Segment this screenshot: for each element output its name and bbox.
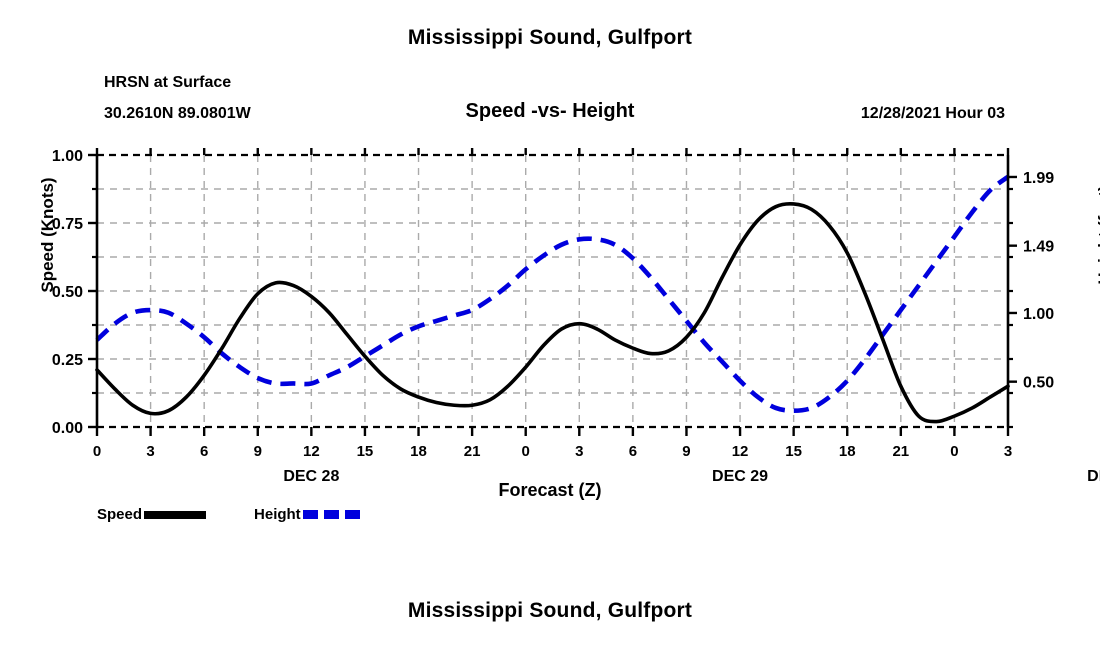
x-tick-label: 0 [950, 443, 958, 460]
x-tick-label: 0 [93, 443, 101, 460]
x-tick-label: 15 [785, 443, 802, 460]
legend-swatch-height-icon [303, 510, 365, 519]
x-tick-label: 21 [892, 443, 909, 460]
series-line-speed [97, 204, 1008, 422]
footer-title: Mississippi Sound, Gulfport [0, 599, 1100, 623]
x-tick-label: 12 [732, 443, 749, 460]
x-axis-label: Forecast (Z) [0, 480, 1100, 501]
y-tick-label-right: 1.49 [1023, 239, 1054, 256]
y-tick-label-left: 0.00 [52, 420, 83, 437]
x-tick-label: 21 [464, 443, 481, 460]
legend-swatch-speed-icon [144, 511, 206, 519]
x-tick-label: 6 [200, 443, 208, 460]
chart-legend: Speed Height [97, 506, 365, 523]
legend-item-height: Height [254, 506, 365, 523]
y-axis-right-label: Height (feet) [1095, 135, 1100, 335]
legend-item-speed: Speed [97, 506, 206, 523]
legend-label-speed: Speed [97, 506, 142, 523]
x-tick-label: 15 [357, 443, 374, 460]
x-tick-label: 6 [629, 443, 637, 460]
x-tick-label: 3 [1004, 443, 1012, 460]
x-tick-label: 18 [839, 443, 856, 460]
x-tick-label: 12 [303, 443, 320, 460]
y-tick-label-right: 1.99 [1023, 170, 1054, 187]
y-tick-label-right: 0.50 [1023, 375, 1054, 392]
y-tick-label-right: 1.00 [1023, 306, 1054, 323]
legend-label-height: Height [254, 506, 301, 523]
series-line-height [97, 177, 1008, 411]
chart-svg: 0.000.250.500.751.000.501.001.491.990369… [0, 0, 1100, 650]
y-tick-label-left: 0.25 [52, 352, 83, 369]
plot-area: 0.000.250.500.751.000.501.001.491.990369… [0, 0, 1100, 650]
x-tick-label: 0 [522, 443, 530, 460]
y-axis-left-label: Speed (Knots) [38, 135, 58, 335]
x-tick-label: 18 [410, 443, 427, 460]
x-tick-label: 9 [682, 443, 690, 460]
chart-page: Mississippi Sound, Gulfport HRSN at Surf… [0, 0, 1100, 650]
x-tick-label: 3 [146, 443, 154, 460]
x-tick-label: 3 [575, 443, 583, 460]
x-tick-label: 9 [254, 443, 262, 460]
